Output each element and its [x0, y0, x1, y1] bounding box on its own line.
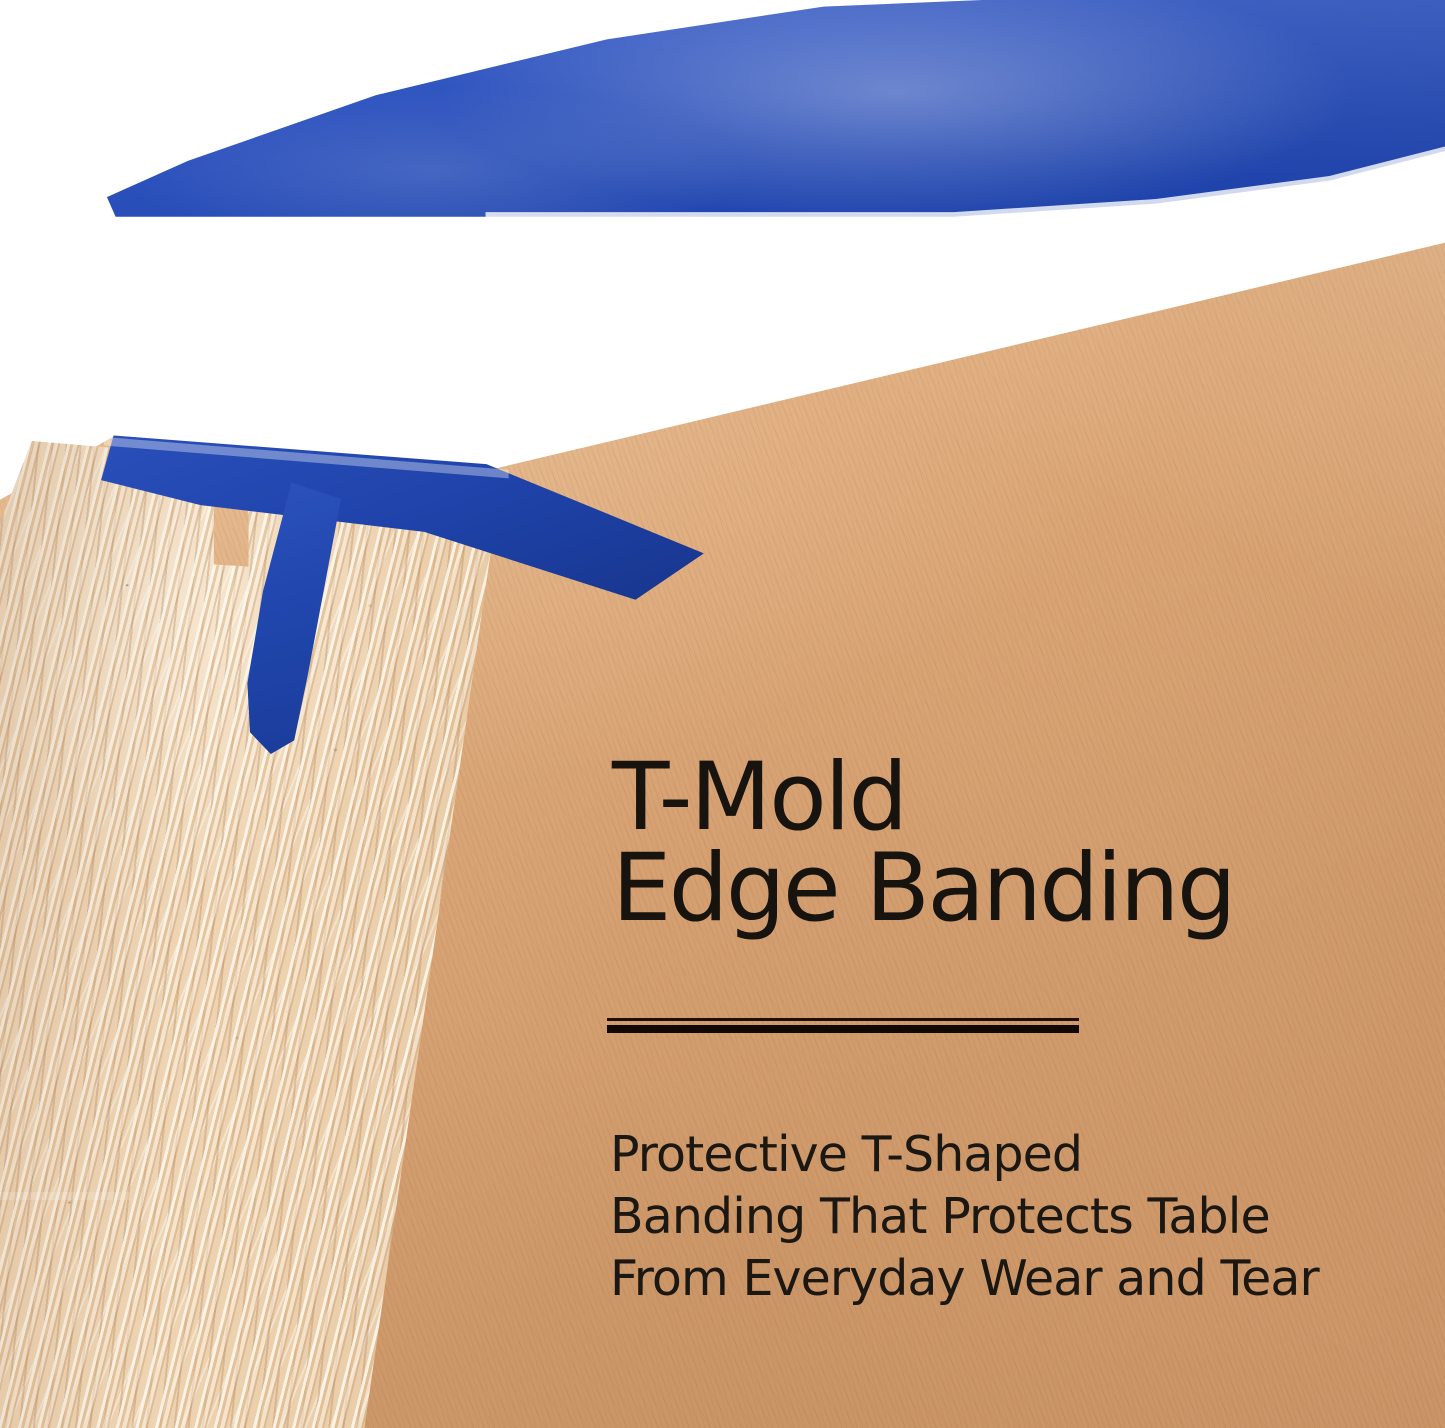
page-title: T-MoldEdge Banding: [612, 752, 1372, 934]
tagline-block: Protective T-Shaped Banding That Protect…: [610, 1124, 1319, 1310]
divider-thick-line: [607, 1025, 1079, 1033]
divider: [607, 1018, 1079, 1033]
headline-block: T-MoldEdge Banding: [612, 752, 1372, 934]
tagline-line-1: Protective T-Shaped: [610, 1124, 1319, 1186]
particleboard-seam-artifact: [0, 1192, 130, 1199]
tagline-line-2: Banding That Protects Table: [610, 1186, 1319, 1248]
product-feature-image: T-MoldEdge Banding Protective T-Shaped B…: [0, 0, 1445, 1428]
title-line-2: Edge Banding: [612, 843, 1372, 934]
tagline-line-3: From Everyday Wear and Tear: [610, 1248, 1319, 1310]
